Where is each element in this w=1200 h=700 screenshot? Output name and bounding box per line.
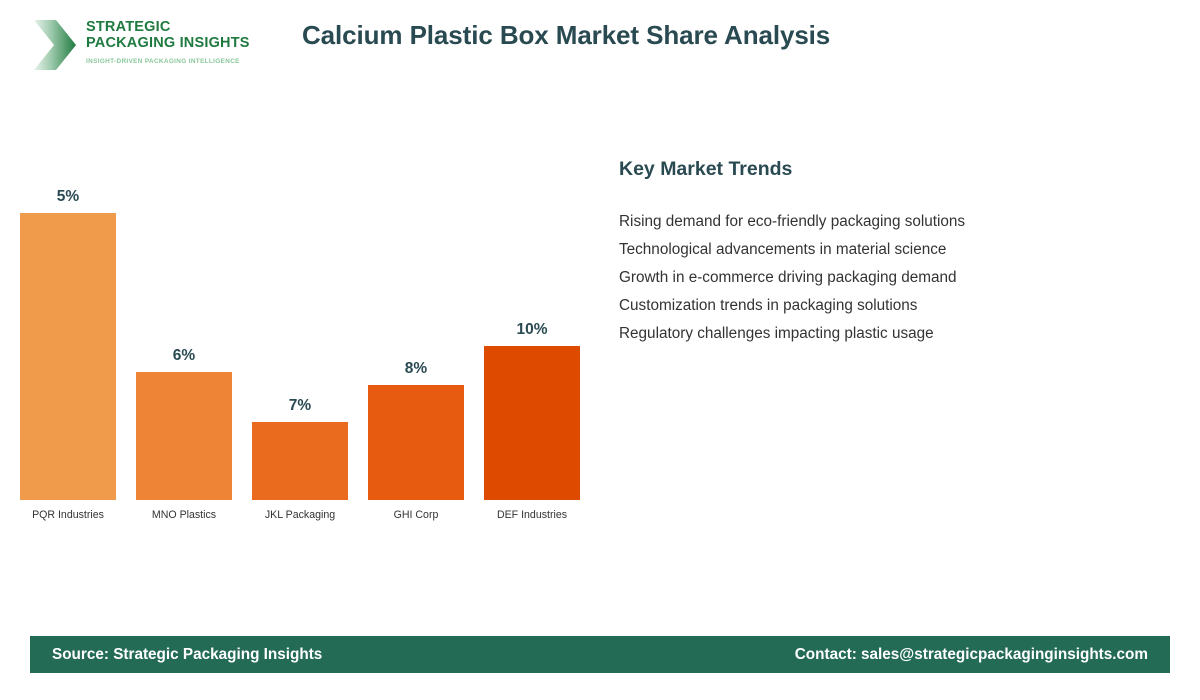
list-item: Customization trends in packaging soluti… <box>619 292 1159 320</box>
trends-list: Rising demand for eco-friendly packaging… <box>619 208 1159 348</box>
trends-heading: Key Market Trends <box>619 158 1159 181</box>
footer-bar: Source: Strategic Packaging Insights Con… <box>30 636 1170 673</box>
brand-logo-text: STRATEGIC PACKAGING INSIGHTS INSIGHT-DRI… <box>86 19 258 66</box>
bar-rect[interactable] <box>252 422 348 500</box>
brand-name-line2: PACKAGING INSIGHTS <box>86 35 258 51</box>
bar-group: 8% GHI Corp <box>368 160 464 500</box>
brand-tagline: INSIGHT-DRIVEN PACKAGING INTELLIGENCE <box>86 57 258 66</box>
bar-rect[interactable] <box>20 213 116 500</box>
bar-group: 5% PQR Industries <box>20 160 116 500</box>
bar-value-label: 6% <box>136 347 232 365</box>
chevron-logo-icon <box>32 16 78 74</box>
list-item: Technological advancements in material s… <box>619 236 1159 264</box>
bar-category-label: MNO Plastics <box>122 505 246 525</box>
bar-group: 10% DEF Industries <box>484 160 580 500</box>
bar-value-label: 7% <box>252 397 348 415</box>
bar-category-label: PQR Industries <box>6 505 130 525</box>
list-item: Regulatory challenges impacting plastic … <box>619 320 1159 348</box>
bar-rect[interactable] <box>136 372 232 500</box>
list-item: Growth in e-commerce driving packaging d… <box>619 264 1159 292</box>
bar-group: 6% MNO Plastics <box>136 160 232 500</box>
brand-name-line1: STRATEGIC <box>86 19 258 35</box>
footer-source: Source: Strategic Packaging Insights <box>52 646 322 664</box>
bar-category-label: JKL Packaging <box>238 505 362 525</box>
bar-value-label: 10% <box>484 321 580 339</box>
bar-category-label: GHI Corp <box>354 505 478 525</box>
bar-value-label: 8% <box>368 360 464 378</box>
bar-value-label: 5% <box>20 188 116 206</box>
footer-contact[interactable]: Contact: sales@strategicpackaginginsight… <box>795 646 1148 664</box>
bar-category-label: DEF Industries <box>470 505 594 525</box>
infographic-page: STRATEGIC PACKAGING INSIGHTS INSIGHT-DRI… <box>0 0 1200 700</box>
market-share-bar-chart: 5% PQR Industries 6% MNO Plastics 7% JKL… <box>0 160 600 550</box>
page-title: Calcium Plastic Box Market Share Analysi… <box>302 20 830 51</box>
bar-rect[interactable] <box>368 385 464 500</box>
chart-plot-area: 5% PQR Industries 6% MNO Plastics 7% JKL… <box>0 160 600 500</box>
bar-rect[interactable] <box>484 346 580 500</box>
key-market-trends-panel: Key Market Trends Rising demand for eco-… <box>619 158 1159 348</box>
list-item: Rising demand for eco-friendly packaging… <box>619 208 1159 236</box>
brand-logo: STRATEGIC PACKAGING INSIGHTS INSIGHT-DRI… <box>30 14 260 76</box>
bar-group: 7% JKL Packaging <box>252 160 348 500</box>
